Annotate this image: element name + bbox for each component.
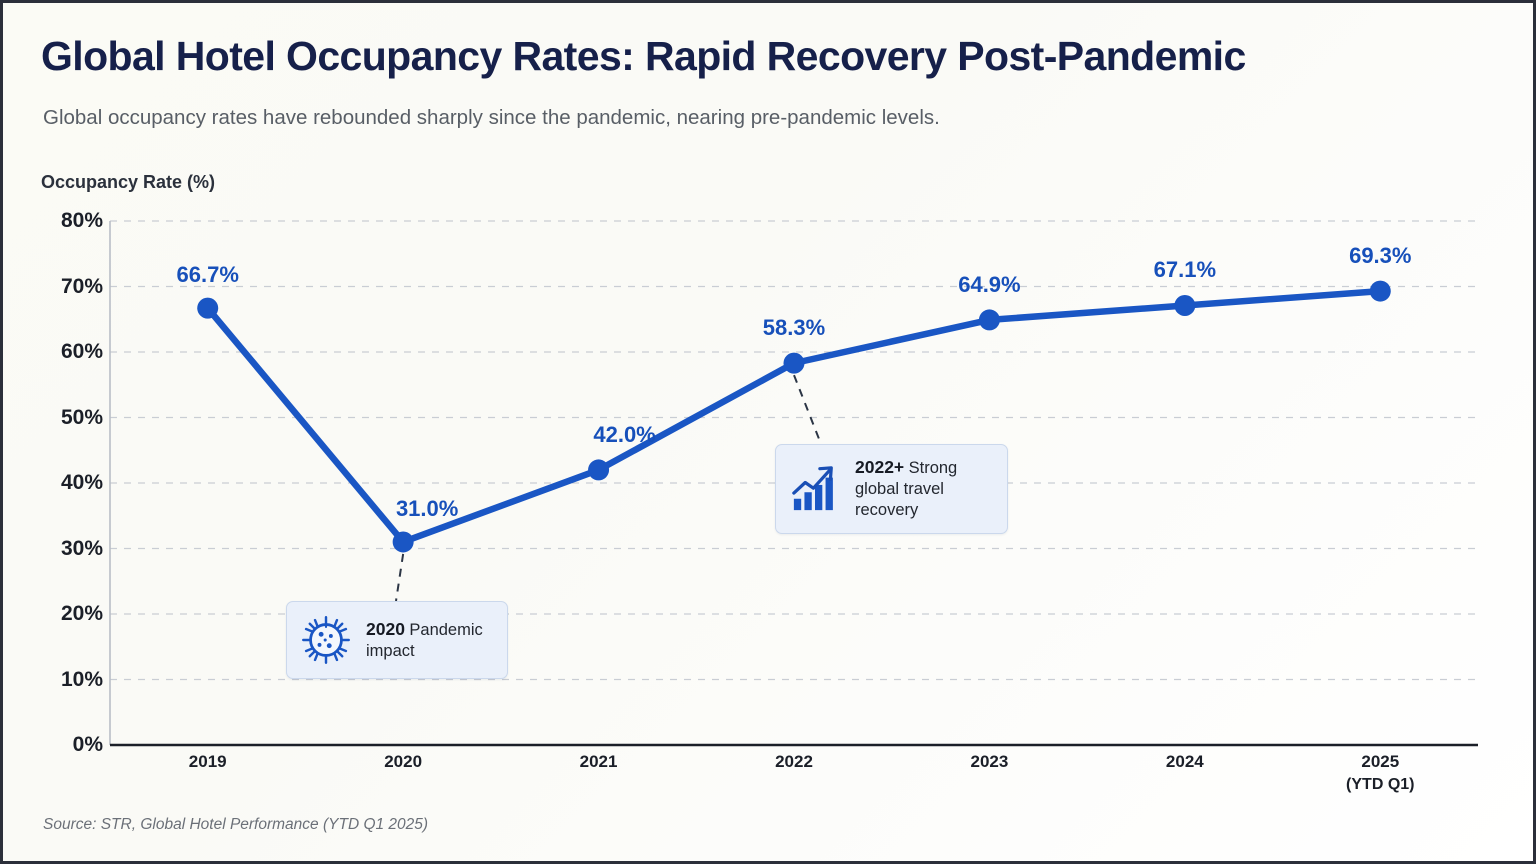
y-axis-ticks: 80%70%60%50%40%30%20%10%0% bbox=[3, 3, 103, 864]
annotation-callout-pandemic[interactable]: 2020 Pandemic impact bbox=[286, 601, 508, 679]
data-point-label: 31.0% bbox=[396, 496, 458, 522]
data-point-label: 58.3% bbox=[763, 315, 825, 341]
data-point-label: 69.3% bbox=[1349, 243, 1411, 269]
data-point-marker[interactable] bbox=[588, 459, 609, 480]
y-axis-tick-label: 80% bbox=[13, 209, 103, 233]
annotation-text-recovery: 2022+ Strong global travel recovery bbox=[855, 457, 991, 521]
data-point-label: 66.7% bbox=[177, 262, 239, 288]
annotation-leader-line bbox=[794, 375, 821, 444]
data-point-marker[interactable] bbox=[784, 353, 805, 374]
y-axis-tick-label: 60% bbox=[13, 340, 103, 364]
x-axis-tick-sublabel: (YTD Q1) bbox=[1290, 774, 1470, 796]
annotation-leader-line bbox=[396, 554, 403, 601]
data-point-marker[interactable] bbox=[979, 309, 1000, 330]
y-axis-tick-label: 30% bbox=[13, 537, 103, 561]
annotation-callout-recovery[interactable]: 2022+ Strong global travel recovery bbox=[775, 444, 1008, 534]
x-axis-tick-label: 2020 bbox=[313, 751, 493, 774]
y-axis-tick-label: 50% bbox=[13, 406, 103, 430]
data-point-marker[interactable] bbox=[393, 531, 414, 552]
y-axis-tick-label: 40% bbox=[13, 471, 103, 495]
y-axis-tick-label: 0% bbox=[13, 733, 103, 757]
data-point-label: 42.0% bbox=[593, 422, 655, 448]
x-axis-tick-label: 2025(YTD Q1) bbox=[1290, 751, 1470, 796]
y-axis-tick-label: 10% bbox=[13, 668, 103, 692]
x-axis-tick-label: 2024 bbox=[1095, 751, 1275, 774]
annotation-leader-lines bbox=[396, 375, 821, 601]
annotation-title-pandemic: 2020 bbox=[366, 619, 405, 639]
chart-canvas: Global Hotel Occupancy Rates: Rapid Reco… bbox=[0, 0, 1536, 864]
x-axis-tick-label: 2023 bbox=[899, 751, 1079, 774]
line-chart-plot bbox=[3, 3, 1536, 864]
data-point-marker[interactable] bbox=[1370, 281, 1391, 302]
growth-chart-icon bbox=[789, 463, 841, 515]
annotation-title-recovery: 2022+ bbox=[855, 457, 904, 477]
data-point-label: 67.1% bbox=[1154, 257, 1216, 283]
y-axis-tick-label: 20% bbox=[13, 602, 103, 626]
data-point-marker[interactable] bbox=[1174, 295, 1195, 316]
data-point-marker[interactable] bbox=[197, 298, 218, 319]
y-axis-tick-label: 70% bbox=[13, 275, 103, 299]
x-axis-tick-label: 2021 bbox=[509, 751, 689, 774]
virus-icon bbox=[300, 614, 352, 666]
x-axis-tick-label: 2019 bbox=[118, 751, 298, 774]
data-point-label: 64.9% bbox=[958, 272, 1020, 298]
annotation-text-pandemic: 2020 Pandemic impact bbox=[366, 619, 491, 662]
x-axis-tick-label: 2022 bbox=[704, 751, 884, 774]
